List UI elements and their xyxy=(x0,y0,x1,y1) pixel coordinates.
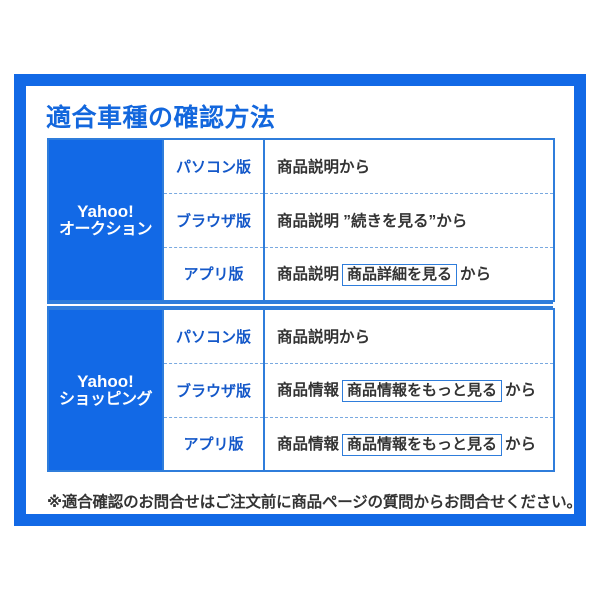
description-text-post: から xyxy=(505,436,536,453)
ui-token-button[interactable]: 商品詳細を見る xyxy=(342,264,457,286)
table-row: Yahoo! ショッピング パソコン版 商品説明から xyxy=(48,309,554,363)
page-title: 適合車種の確認方法 xyxy=(46,98,276,134)
brand-cell-shopping: Yahoo! ショッピング xyxy=(48,309,163,471)
description-text-pre: 商品説明 ”続きを見る”から xyxy=(277,213,467,230)
description-cell: 商品情報商品情報をもっと見るから xyxy=(264,417,554,471)
brand-line-1: Yahoo! xyxy=(49,372,162,391)
description-cell: 商品説明から xyxy=(264,139,554,193)
description-cell: 商品説明商品詳細を見るから xyxy=(264,247,554,301)
description-text-pre: 商品説明 xyxy=(277,266,339,283)
brand-cell-auction: Yahoo! オークション xyxy=(48,139,163,301)
ui-token-button[interactable]: 商品情報をもっと見る xyxy=(342,380,502,402)
version-label: ブラウザ版 xyxy=(163,363,264,417)
screenshot-root: 適合車種の確認方法 Yahoo! オークション パソコン版 xyxy=(0,0,600,600)
footnote: ※適合確認のお問合せはご注文前に商品ページの質問からお問合せください。 xyxy=(47,490,559,512)
brand-line-2: ショッピング xyxy=(49,391,162,409)
description-text-post: から xyxy=(505,382,536,399)
compatibility-table-auction: Yahoo! オークション パソコン版 商品説明から ブラウザ版 商品説明 xyxy=(47,138,555,302)
version-label: アプリ版 xyxy=(163,417,264,471)
brand-line-1: Yahoo! xyxy=(49,202,162,221)
version-label: パソコン版 xyxy=(163,139,264,193)
ui-token-button[interactable]: 商品情報をもっと見る xyxy=(342,434,502,456)
description-cell: 商品情報商品情報をもっと見るから xyxy=(264,363,554,417)
description-text-pre: 商品情報 xyxy=(277,382,339,399)
compatibility-table-shopping: Yahoo! ショッピング パソコン版 商品説明から ブラウザ版 商品情報商 xyxy=(47,308,555,472)
description-text-post: から xyxy=(460,266,491,283)
description-cell: 商品説明 ”続きを見る”から xyxy=(264,193,554,247)
blue-frame: 適合車種の確認方法 Yahoo! オークション パソコン版 xyxy=(14,74,586,526)
version-label: ブラウザ版 xyxy=(163,193,264,247)
compatibility-table-wrap: Yahoo! オークション パソコン版 商品説明から ブラウザ版 商品説明 xyxy=(47,138,553,472)
version-label: アプリ版 xyxy=(163,247,264,301)
description-text-pre: 商品説明から xyxy=(277,159,370,176)
brand-line-2: オークション xyxy=(49,221,162,239)
description-cell: 商品説明から xyxy=(264,309,554,363)
table-row: Yahoo! オークション パソコン版 商品説明から xyxy=(48,139,554,193)
description-text-pre: 商品説明から xyxy=(277,329,370,346)
info-panel: 適合車種の確認方法 Yahoo! オークション パソコン版 xyxy=(26,86,574,514)
version-label: パソコン版 xyxy=(163,309,264,363)
description-text-pre: 商品情報 xyxy=(277,436,339,453)
